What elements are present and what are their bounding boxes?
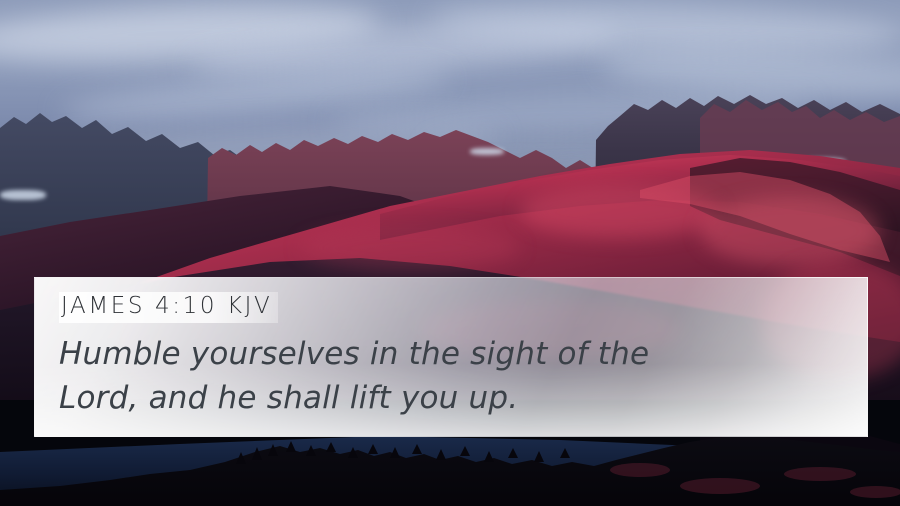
- verse-reference: JAMES 4:10 KJV: [59, 292, 278, 323]
- verse-text: Humble yourselves in the sight of the Lo…: [59, 332, 759, 420]
- wallpaper-screen: JAMES 4:10 KJV Humble yourselves in the …: [0, 0, 900, 506]
- verse-card: JAMES 4:10 KJV Humble yourselves in the …: [34, 277, 868, 437]
- verse-card-content: JAMES 4:10 KJV Humble yourselves in the …: [35, 278, 867, 420]
